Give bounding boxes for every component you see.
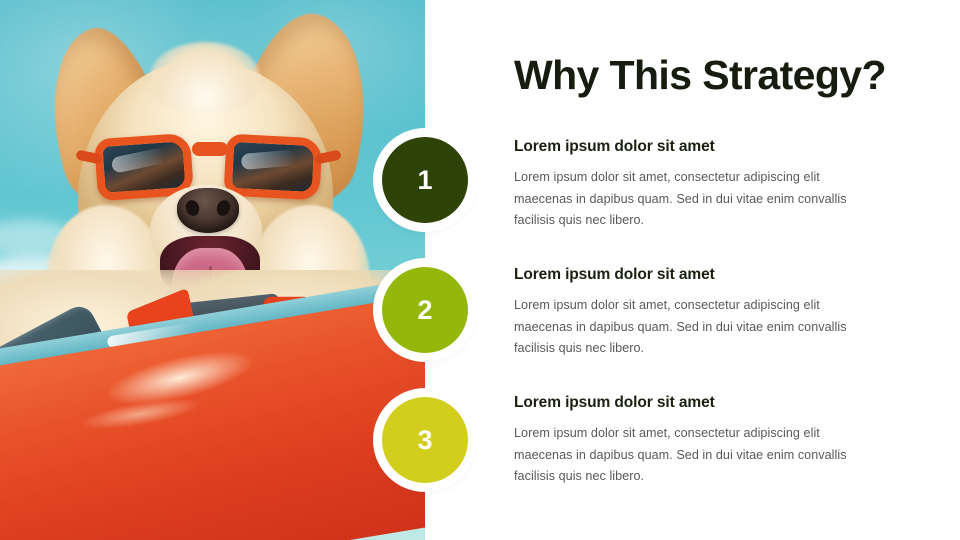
step-item-3: Lorem ipsum dolor sit amet Lorem ipsum d…	[514, 394, 866, 488]
step-body-3: Lorem ipsum dolor sit amet, consectetur …	[514, 423, 866, 488]
step-body-1: Lorem ipsum dolor sit amet, consectetur …	[514, 167, 866, 232]
step-title-3: Lorem ipsum dolor sit amet	[514, 394, 866, 412]
page-title: Why This Strategy?	[514, 52, 886, 99]
step-title-2: Lorem ipsum dolor sit amet	[514, 266, 866, 284]
dog-nostril-left	[184, 198, 201, 217]
sunglasses-lens-right	[223, 134, 322, 201]
step-item-2: Lorem ipsum dolor sit amet Lorem ipsum d…	[514, 266, 866, 360]
step-item-1: Lorem ipsum dolor sit amet Lorem ipsum d…	[514, 138, 866, 232]
step-title-1: Lorem ipsum dolor sit amet	[514, 138, 866, 156]
step-number-badge-2[interactable]: 2	[382, 267, 468, 353]
dog-nose	[177, 188, 239, 233]
dog-in-car-illustration	[0, 0, 425, 540]
slide: 1 2 3 Why This Strategy? Lorem ipsum dol…	[0, 0, 960, 540]
step-number-badge-3[interactable]: 3	[382, 397, 468, 483]
dog-head-fluff	[150, 42, 260, 112]
hero-image-panel	[0, 0, 425, 540]
lens-glint	[110, 147, 166, 174]
lens-glint	[241, 149, 296, 170]
dog-nostril-right	[215, 198, 232, 217]
step-number-badge-1[interactable]: 1	[382, 137, 468, 223]
step-body-2: Lorem ipsum dolor sit amet, consectetur …	[514, 295, 866, 360]
sunglasses-bridge	[192, 142, 228, 156]
content-panel: Why This Strategy? Lorem ipsum dolor sit…	[490, 0, 960, 540]
